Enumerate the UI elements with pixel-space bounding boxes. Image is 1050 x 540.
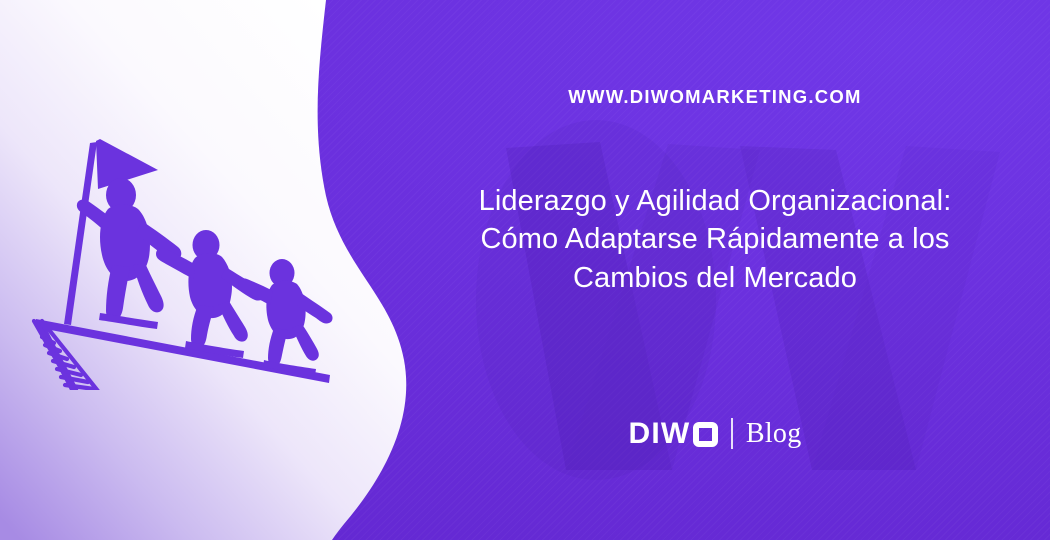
team-climbing-illustration <box>18 125 348 390</box>
brand-name-text: DIW <box>628 419 690 449</box>
content-column: WWW.DIWOMARKETING.COM Liderazgo y Agilid… <box>430 0 1000 540</box>
logo-divider <box>731 418 733 449</box>
logo-square-o-icon <box>693 422 718 447</box>
site-url: WWW.DIWOMARKETING.COM <box>568 86 861 108</box>
page-title: Liderazgo y Agilidad Organizacional: Cóm… <box>455 182 975 297</box>
brand-logo-lockup[interactable]: DIW Blog <box>430 418 1000 449</box>
blog-banner: WWW.DIWOMARKETING.COM Liderazgo y Agilid… <box>0 0 1050 540</box>
logo-section-label: Blog <box>746 420 802 448</box>
brand-name: DIW <box>628 419 718 449</box>
